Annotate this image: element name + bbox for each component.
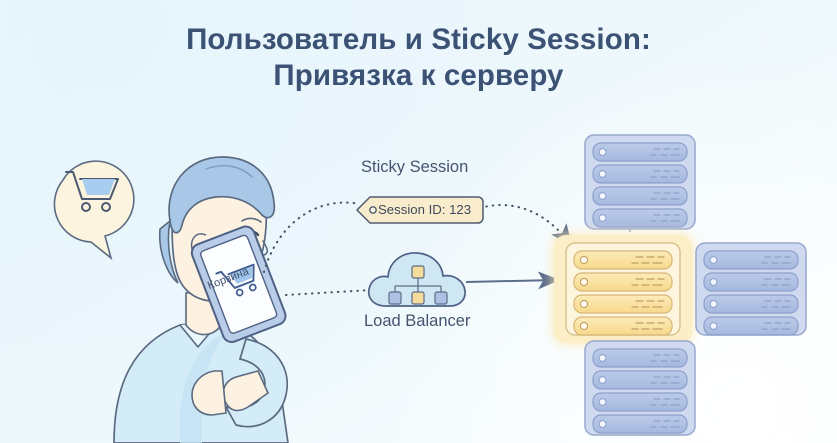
server-group xyxy=(540,125,830,440)
server-rack-bottom xyxy=(585,341,695,435)
session-tag-label: Session ID: 123 xyxy=(378,202,471,217)
server-rack-right xyxy=(696,243,806,335)
load-balancer-cloud xyxy=(364,248,474,310)
server-rack-top xyxy=(585,135,695,229)
diagram-canvas: Пользователь и Sticky Session: Привязка … xyxy=(0,0,837,443)
load-balancer-label: Load Balancer xyxy=(364,312,470,331)
edge-tablet-to-load-balancer xyxy=(286,290,372,295)
edge-tablet-to-session-tag xyxy=(264,203,360,272)
server-rack-active xyxy=(552,233,694,345)
sticky-session-label: Sticky Session xyxy=(361,158,468,177)
tag-hole-icon xyxy=(370,207,376,213)
